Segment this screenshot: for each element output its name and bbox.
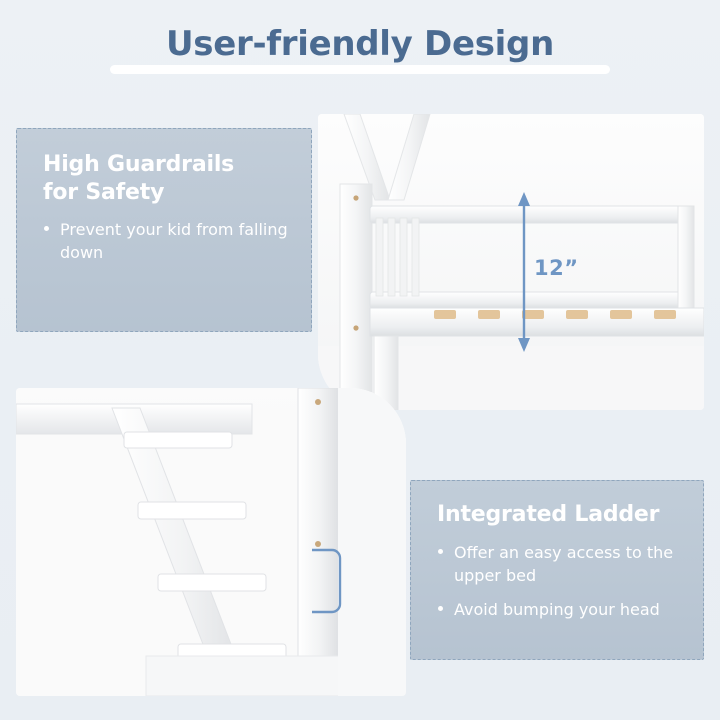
page-title-text: User-friendly Design bbox=[166, 24, 554, 64]
ladder-photo bbox=[16, 388, 406, 696]
guardrail-illustration bbox=[318, 114, 704, 410]
guardrail-height-label: 12” bbox=[534, 256, 579, 280]
page-root: User-friendly Design bbox=[0, 0, 720, 720]
card-bullets-high-guardrails: Prevent your kid from falling down bbox=[43, 218, 291, 264]
card-title-high-guardrails: High Guardrails for Safety bbox=[43, 151, 291, 206]
card-bullets-integrated-ladder: Offer an easy access to the upper bed Av… bbox=[437, 541, 687, 622]
callout-card-integrated-ladder: Integrated Ladder Offer an easy access t… bbox=[410, 480, 704, 660]
page-title: User-friendly Design bbox=[152, 24, 568, 74]
list-item: Offer an easy access to the upper bed bbox=[437, 541, 687, 587]
guardrail-photo: 12” bbox=[318, 114, 704, 410]
list-item: Prevent your kid from falling down bbox=[43, 218, 291, 264]
page-title-container: User-friendly Design bbox=[0, 24, 720, 74]
card-title-line2: for Safety bbox=[43, 180, 164, 205]
title-underline bbox=[110, 65, 610, 74]
callout-card-high-guardrails: High Guardrails for Safety Prevent your … bbox=[16, 128, 312, 332]
ladder-illustration bbox=[16, 388, 406, 696]
card-title-line1: High Guardrails bbox=[43, 152, 234, 177]
card-title-integrated-ladder: Integrated Ladder bbox=[437, 501, 687, 529]
list-item: Avoid bumping your head bbox=[437, 598, 687, 621]
